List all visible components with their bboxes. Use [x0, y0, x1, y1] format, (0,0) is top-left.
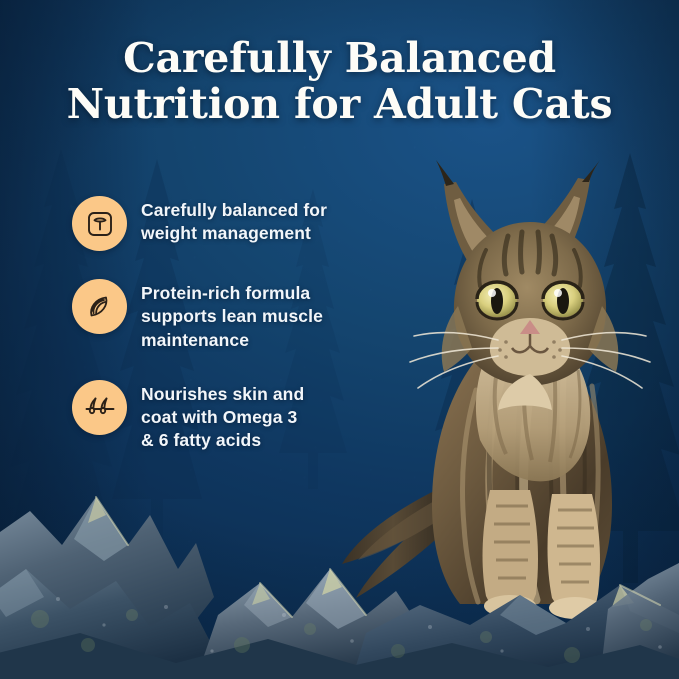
product-feature-banner: Carefully Balanced Nutrition for Adult C…: [0, 0, 679, 679]
muscle-fiber-icon: [72, 279, 127, 334]
rock-foreground: [0, 419, 679, 679]
feature-line: Nourishes skin and: [141, 383, 304, 406]
feature-line: Carefully balanced for: [141, 199, 327, 222]
feature-text: Protein-rich formula supports lean muscl…: [141, 279, 323, 352]
feature-list: Carefully balanced for weight management…: [72, 196, 372, 453]
feature-item: Carefully balanced for weight management: [72, 196, 372, 251]
feature-item: Protein-rich formula supports lean muscl…: [72, 279, 372, 352]
feature-text: Carefully balanced for weight management: [141, 196, 327, 246]
feature-line: supports lean muscle: [141, 305, 323, 328]
feature-line: Protein-rich formula: [141, 282, 323, 305]
headline-line-1: Carefully Balanced: [123, 34, 556, 82]
weight-scale-icon: [72, 196, 127, 251]
page-title: Carefully Balanced Nutrition for Adult C…: [0, 36, 679, 128]
feature-line: maintenance: [141, 329, 323, 352]
feature-line: weight management: [141, 222, 327, 245]
headline-line-2: Nutrition for Adult Cats: [26, 82, 653, 128]
